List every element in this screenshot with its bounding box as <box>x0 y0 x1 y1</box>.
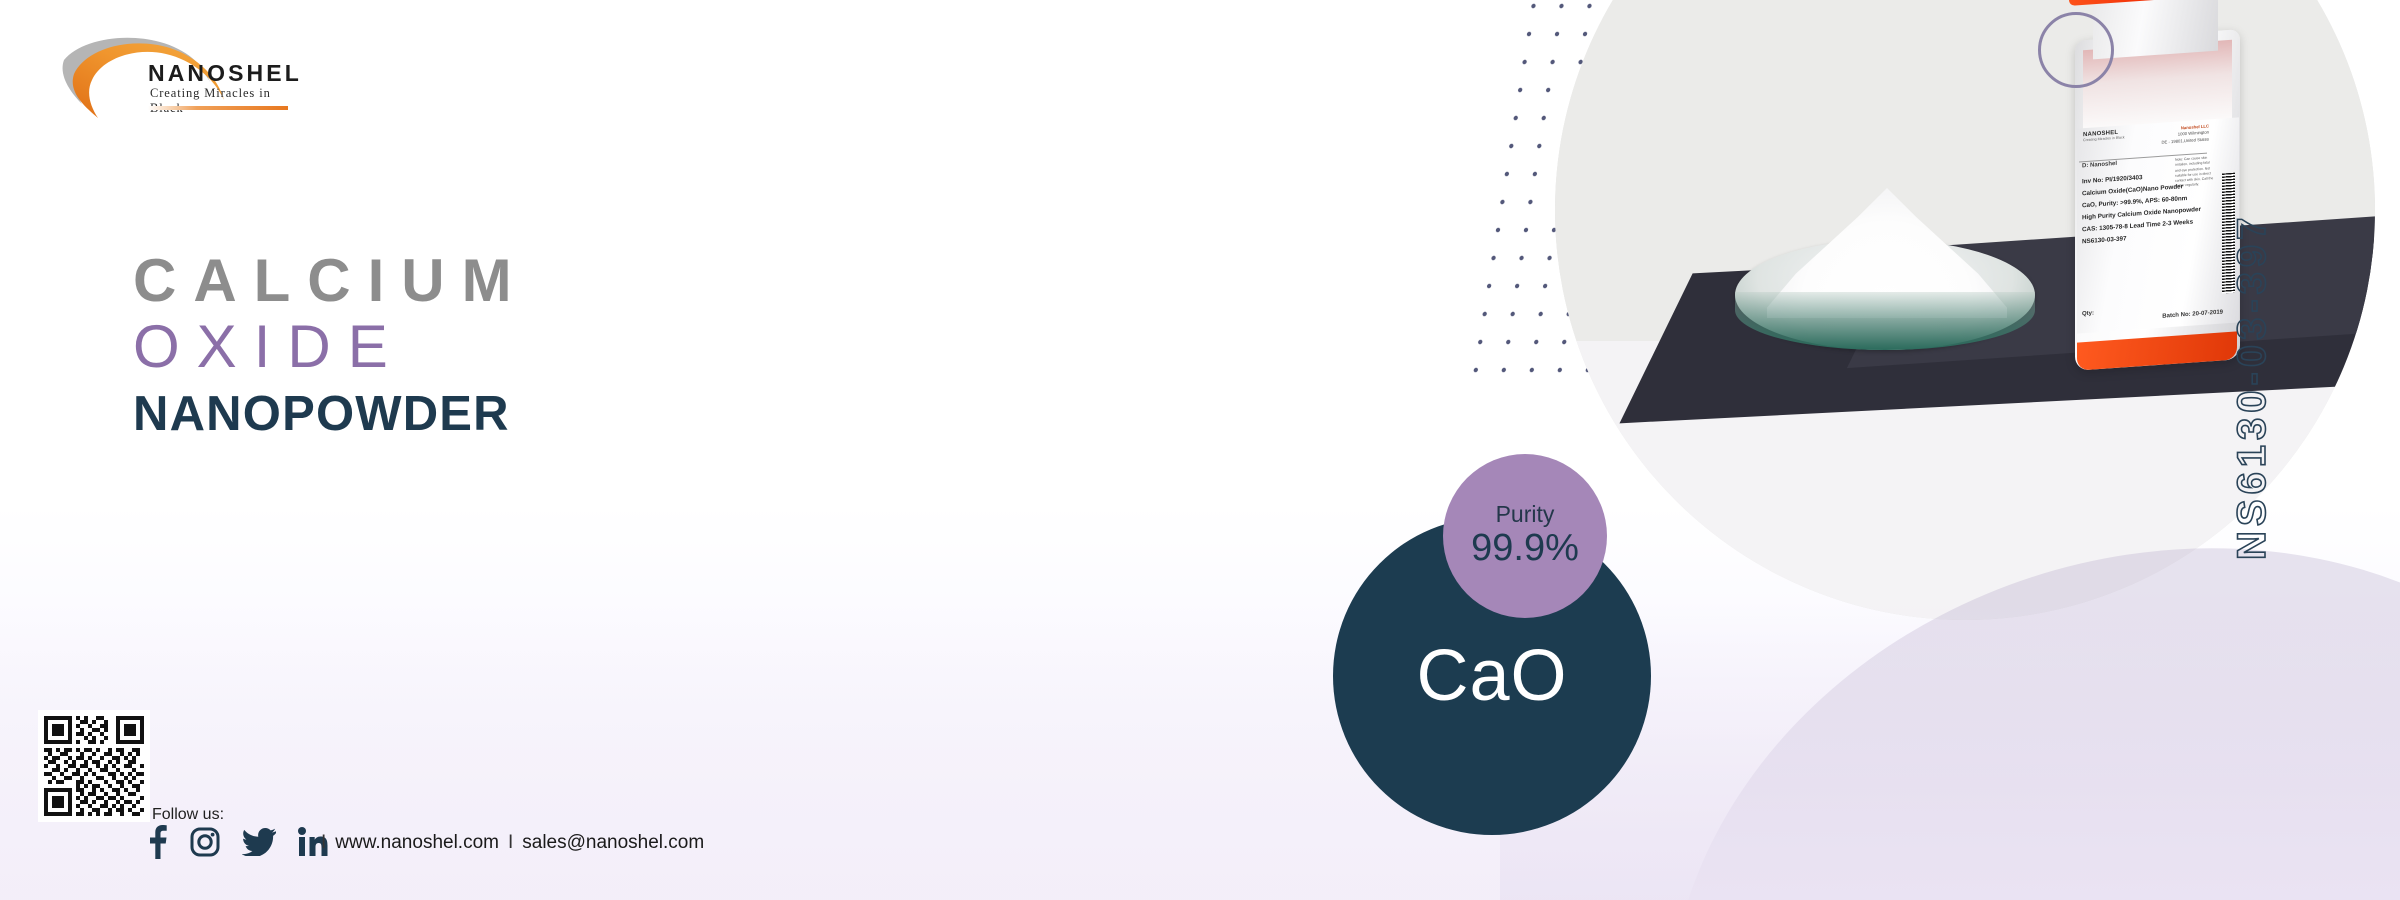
qr-code[interactable] <box>38 710 150 822</box>
contact-separator-2: I <box>508 832 513 853</box>
label-spec-lines: Inv No: PI/1920/3403 Calcium Oxide(CaO)N… <box>2082 167 2214 249</box>
contact-separator-1: I <box>321 832 326 853</box>
formula-text: CaO <box>1416 635 1567 717</box>
label-batch: Batch No: 20-07-2019 <box>2162 309 2223 319</box>
purity-badge: Purity 99.9% <box>1443 454 1607 618</box>
title-line-calcium: CALCIUM <box>133 250 529 312</box>
instagram-icon[interactable] <box>190 827 220 862</box>
logo-tagline: Creating Miracles in Black <box>150 86 292 116</box>
page-title: CALCIUM OXIDE NANOPOWDER <box>133 250 529 445</box>
title-line-oxide: OXIDE <box>133 312 529 383</box>
website-link[interactable]: www.nanoshel.com <box>335 832 499 853</box>
product-banner: NANOSHEL Creating Miracles in Black Nano… <box>0 0 2400 900</box>
qr-code-icon <box>44 716 144 816</box>
logo-wordmark: NANOSHEL <box>148 60 302 87</box>
label-qty: Qty: <box>2082 310 2094 317</box>
twitter-icon[interactable] <box>242 828 276 861</box>
purity-value: 99.9% <box>1471 527 1579 571</box>
follow-us-label: Follow us: <box>152 806 224 824</box>
social-links <box>146 825 328 864</box>
facebook-icon[interactable] <box>146 825 168 864</box>
purity-label: Purity <box>1496 502 1555 527</box>
outline-ring-decoration <box>2038 12 2114 88</box>
logo-underline <box>148 106 288 110</box>
email-link[interactable]: sales@nanoshel.com <box>522 832 704 853</box>
label-company: Nanoshel LLC 1000 Wilmington DE - 19801,… <box>2162 123 2210 145</box>
bottle-label: NANOSHEL Creating Miracles in Black Nano… <box>2077 117 2239 333</box>
nanoshel-logo[interactable]: NANOSHEL Creating Miracles in Black <box>52 32 292 122</box>
label-owner-line: D: Nanoshel <box>2082 161 2117 169</box>
title-line-nanopowder: NANOPOWDER <box>133 383 529 446</box>
contact-info: Iwww.nanoshel.comIsales@nanoshel.com <box>312 832 704 854</box>
product-code: NS6130-03-397 <box>2230 213 2275 560</box>
